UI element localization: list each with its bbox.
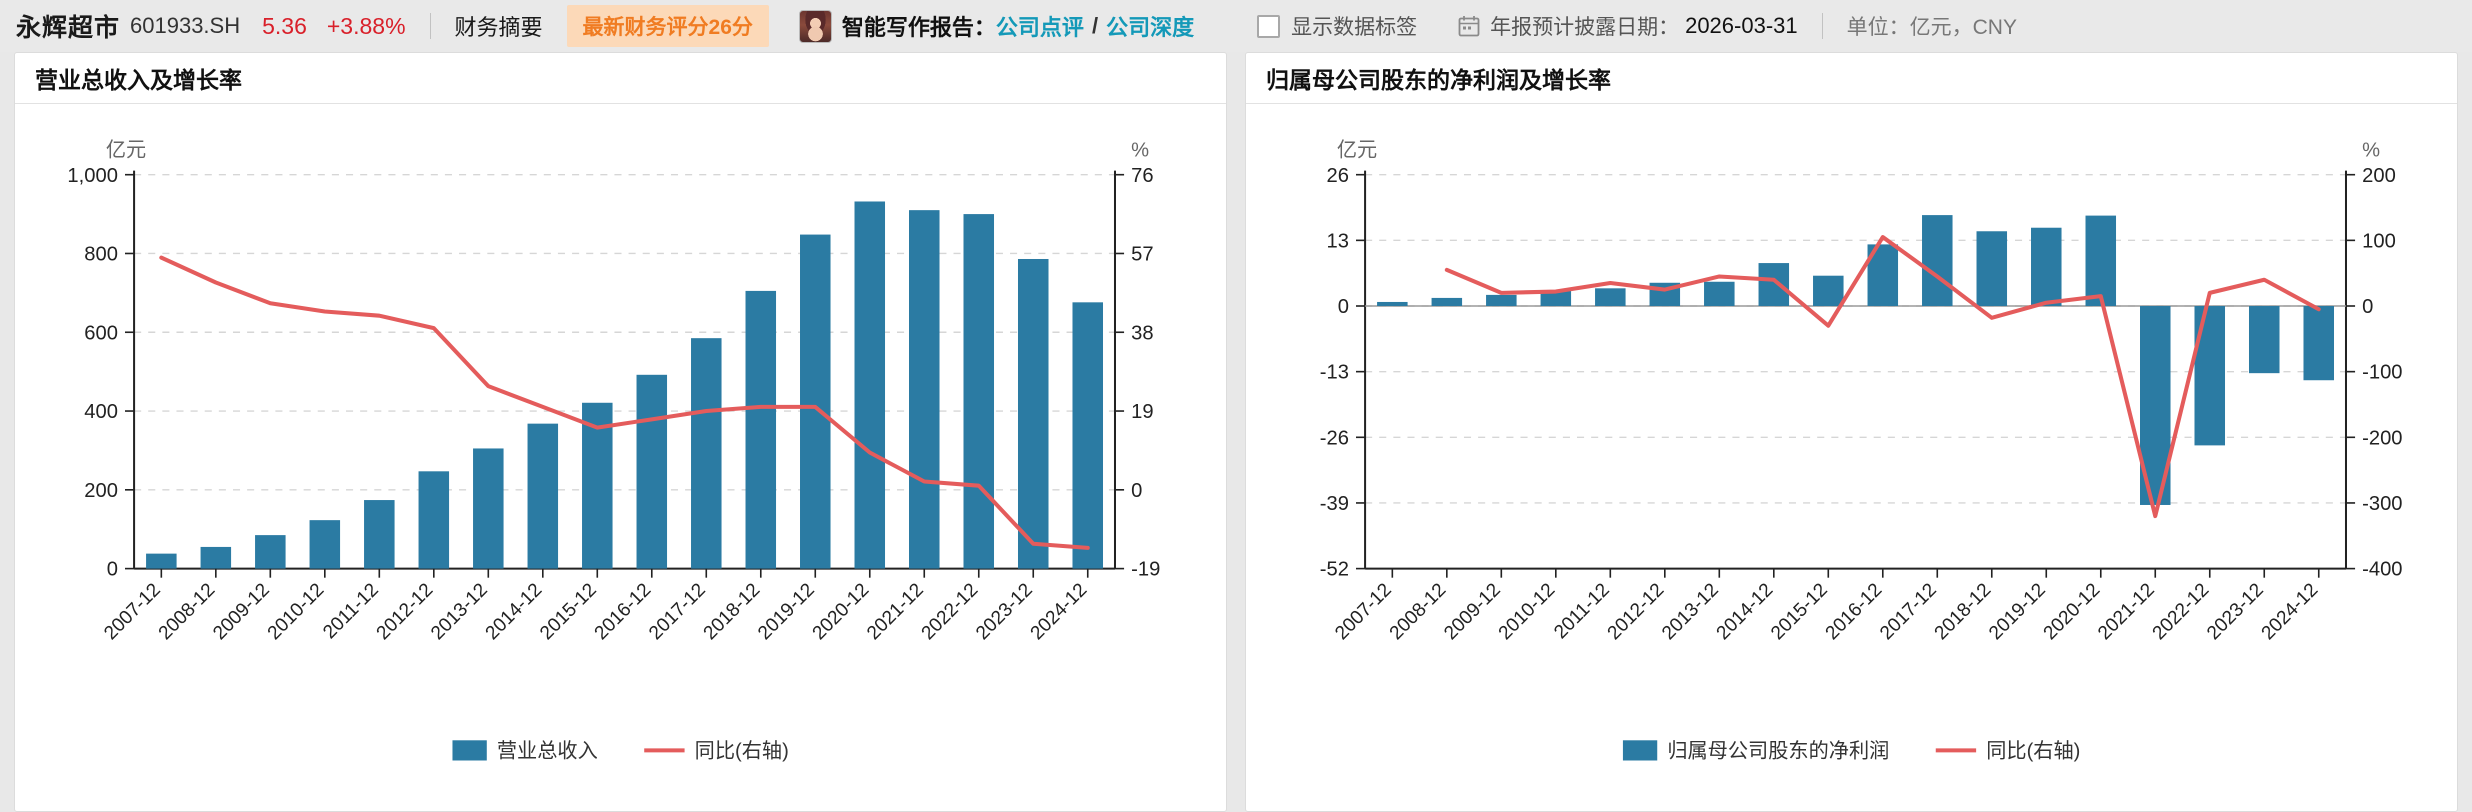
stock-name: 永辉超市 (16, 8, 120, 44)
svg-text:600: 600 (84, 322, 118, 344)
svg-text:亿元: 亿元 (1337, 139, 1377, 162)
svg-text:200: 200 (84, 480, 118, 502)
show-data-labels-label[interactable]: 显示数据标签 (1291, 11, 1417, 41)
ai-report-label: 智能写作报告： (842, 10, 996, 42)
svg-text:1,000: 1,000 (67, 165, 118, 187)
svg-text:2020-12: 2020-12 (2040, 580, 2105, 645)
svg-text:200: 200 (2362, 165, 2396, 187)
svg-text:2010-12: 2010-12 (1495, 580, 1560, 645)
charts-container: 营业总收入及增长率 亿元%02004006008001,000-19019385… (0, 52, 2472, 812)
svg-text:400: 400 (84, 401, 118, 423)
svg-text:2023-12: 2023-12 (972, 580, 1037, 645)
svg-text:2021-12: 2021-12 (863, 580, 928, 645)
svg-text:2022-12: 2022-12 (2149, 580, 2214, 645)
divider (1822, 13, 1823, 39)
top-header-bar: 永辉超市 601933.SH 5.36 +3.88% 财务摘要 最新财务评分26… (0, 0, 2472, 52)
divider (430, 13, 431, 39)
svg-text:800: 800 (84, 244, 118, 266)
svg-text:归属母公司股东的净利润: 归属母公司股东的净利润 (1667, 739, 1889, 762)
svg-text:0: 0 (1338, 296, 1349, 318)
svg-text:营业总收入: 营业总收入 (497, 739, 598, 762)
svg-text:2010-12: 2010-12 (264, 580, 329, 645)
divider (1437, 13, 1438, 39)
svg-text:2007-12: 2007-12 (100, 580, 165, 645)
divider (1234, 13, 1235, 39)
svg-text:2012-12: 2012-12 (373, 580, 438, 645)
show-data-labels-checkbox[interactable] (1257, 15, 1280, 38)
svg-text:-400: -400 (2362, 559, 2402, 581)
svg-text:0: 0 (2362, 296, 2373, 318)
svg-text:2013-12: 2013-12 (1658, 580, 1723, 645)
svg-text:2016-12: 2016-12 (1822, 580, 1887, 645)
card-net-profit-header: 归属母公司股东的净利润及增长率 (1246, 53, 2457, 104)
svg-text:-300: -300 (2362, 493, 2402, 515)
link-separator: / (1092, 13, 1098, 39)
svg-text:2022-12: 2022-12 (918, 580, 983, 645)
unit-note: 单位：亿元，CNY (1847, 11, 2017, 41)
disclosure-date-label: 年报预计披露日期： (1490, 11, 1679, 41)
svg-text:同比(右轴): 同比(右轴) (695, 739, 789, 762)
svg-text:亿元: 亿元 (106, 139, 146, 162)
svg-text:2012-12: 2012-12 (1604, 580, 1669, 645)
svg-text:100: 100 (2362, 230, 2396, 252)
financial-score-badge[interactable]: 最新财务评分26分 (567, 5, 769, 47)
svg-text:2015-12: 2015-12 (536, 580, 601, 645)
svg-text:2020-12: 2020-12 (809, 580, 874, 645)
revenue-chart[interactable]: 亿元%02004006008001,000-190193857762007-12… (15, 104, 1226, 811)
page-title: 归属母公司股东的净利润及增长率 (1266, 61, 1611, 95)
svg-text:-39: -39 (1320, 493, 1349, 515)
svg-text:2023-12: 2023-12 (2203, 580, 2268, 645)
svg-text:0: 0 (1131, 480, 1142, 502)
svg-text:26: 26 (1326, 165, 1348, 187)
svg-text:同比(右轴): 同比(右轴) (1986, 739, 2080, 762)
svg-text:2024-12: 2024-12 (2258, 580, 2323, 645)
svg-text:2017-12: 2017-12 (645, 580, 710, 645)
link-company-review[interactable]: 公司点评 (996, 10, 1084, 42)
avatar (799, 10, 832, 43)
svg-text:-13: -13 (1320, 362, 1349, 384)
svg-text:2019-12: 2019-12 (1985, 580, 2050, 645)
card-net-profit: 归属母公司股东的净利润及增长率 亿元%-52-39-26-1301326-400… (1245, 52, 2458, 812)
calendar-icon (1458, 15, 1480, 37)
card-net-profit-body: 亿元%-52-39-26-1301326-400-300-200-1000100… (1246, 104, 2457, 811)
svg-text:2014-12: 2014-12 (1713, 580, 1778, 645)
svg-text:%: % (2362, 140, 2380, 162)
svg-text:0: 0 (107, 559, 118, 581)
svg-text:2024-12: 2024-12 (1027, 580, 1092, 645)
net-profit-chart[interactable]: 亿元%-52-39-26-1301326-400-300-200-1000100… (1246, 104, 2457, 811)
svg-text:-26: -26 (1320, 427, 1349, 449)
svg-text:2014-12: 2014-12 (482, 580, 547, 645)
link-company-depth[interactable]: 公司深度 (1106, 10, 1194, 42)
svg-text:2019-12: 2019-12 (754, 580, 819, 645)
card-revenue: 营业总收入及增长率 亿元%02004006008001,000-19019385… (14, 52, 1227, 812)
svg-text:-52: -52 (1320, 559, 1349, 581)
svg-text:2007-12: 2007-12 (1331, 580, 1396, 645)
svg-text:%: % (1131, 140, 1149, 162)
svg-text:2013-12: 2013-12 (427, 580, 492, 645)
stock-code: 601933.SH (130, 13, 240, 39)
svg-text:2018-12: 2018-12 (700, 580, 765, 645)
svg-text:2021-12: 2021-12 (2094, 580, 2159, 645)
svg-text:2011-12: 2011-12 (1550, 580, 1614, 644)
svg-text:2018-12: 2018-12 (1931, 580, 1996, 645)
stock-change-percent: +3.88% (327, 13, 406, 40)
svg-text:-200: -200 (2362, 427, 2402, 449)
svg-text:38: 38 (1131, 322, 1153, 344)
card-revenue-body: 亿元%02004006008001,000-190193857762007-12… (15, 104, 1226, 811)
svg-text:2015-12: 2015-12 (1767, 580, 1832, 645)
stock-price: 5.36 (262, 13, 307, 40)
page-title: 营业总收入及增长率 (35, 61, 242, 95)
svg-text:57: 57 (1131, 244, 1153, 266)
svg-text:-19: -19 (1131, 559, 1160, 581)
svg-text:2011-12: 2011-12 (319, 580, 383, 644)
card-revenue-header: 营业总收入及增长率 (15, 53, 1226, 104)
svg-text:2016-12: 2016-12 (591, 580, 656, 645)
svg-text:2017-12: 2017-12 (1876, 580, 1941, 645)
svg-text:2009-12: 2009-12 (1440, 580, 1505, 645)
svg-text:2009-12: 2009-12 (209, 580, 274, 645)
svg-text:13: 13 (1326, 230, 1348, 252)
svg-text:76: 76 (1131, 165, 1153, 187)
svg-text:19: 19 (1131, 401, 1153, 423)
svg-text:2008-12: 2008-12 (155, 580, 220, 645)
tab-financial-summary[interactable]: 财务摘要 (455, 10, 543, 42)
svg-text:-100: -100 (2362, 362, 2402, 384)
disclosure-date-value: 2026-03-31 (1685, 13, 1798, 39)
svg-text:2008-12: 2008-12 (1386, 580, 1451, 645)
